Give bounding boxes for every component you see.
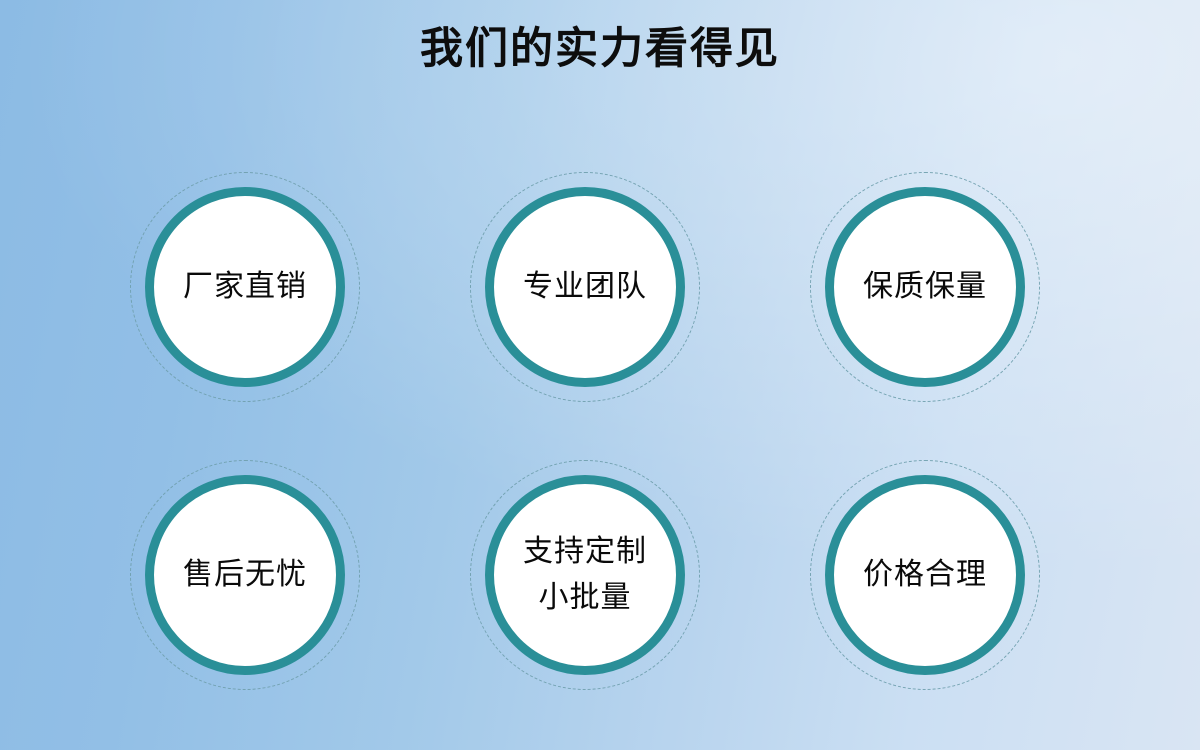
badge-professional-team[interactable]: 专业团队 bbox=[470, 172, 700, 402]
badge-circle[interactable]: 售后无忧 bbox=[145, 475, 345, 675]
poster-canvas: 我们的实力看得见 厂家直销 专业团队 保质保量 bbox=[0, 0, 1200, 750]
page-title: 我们的实力看得见 bbox=[0, 28, 1200, 71]
badge-circle[interactable]: 价格合理 bbox=[825, 475, 1025, 675]
badge-label-line: 小批量 bbox=[523, 575, 647, 621]
badge-label: 售后无忧 bbox=[177, 552, 313, 598]
badge-grid: 厂家直销 专业团队 保质保量 售后无忧 bbox=[0, 0, 1200, 750]
badge-factory-direct-sales[interactable]: 厂家直销 bbox=[130, 172, 360, 402]
badge-label: 价格合理 bbox=[857, 552, 993, 598]
badge-label-line: 专业团队 bbox=[523, 264, 647, 310]
badge-circle[interactable]: 支持定制 小批量 bbox=[485, 475, 685, 675]
badge-circle[interactable]: 保质保量 bbox=[825, 187, 1025, 387]
badge-label-line: 支持定制 bbox=[523, 529, 647, 575]
badge-quality-and-quantity[interactable]: 保质保量 bbox=[810, 172, 1040, 402]
badge-label-line: 价格合理 bbox=[863, 552, 987, 598]
badge-label: 厂家直销 bbox=[177, 264, 313, 310]
badge-label: 保质保量 bbox=[857, 264, 993, 310]
badge-custom-small-batch[interactable]: 支持定制 小批量 bbox=[470, 460, 700, 690]
badge-label-line: 保质保量 bbox=[863, 264, 987, 310]
badge-after-sales-worry-free[interactable]: 售后无忧 bbox=[130, 460, 360, 690]
badge-circle[interactable]: 厂家直销 bbox=[145, 187, 345, 387]
badge-label-line: 厂家直销 bbox=[183, 264, 307, 310]
badge-circle[interactable]: 专业团队 bbox=[485, 187, 685, 387]
badge-label: 支持定制 小批量 bbox=[517, 529, 653, 620]
badge-label: 专业团队 bbox=[517, 264, 653, 310]
badge-label-line: 售后无忧 bbox=[183, 552, 307, 598]
badge-reasonable-price[interactable]: 价格合理 bbox=[810, 460, 1040, 690]
